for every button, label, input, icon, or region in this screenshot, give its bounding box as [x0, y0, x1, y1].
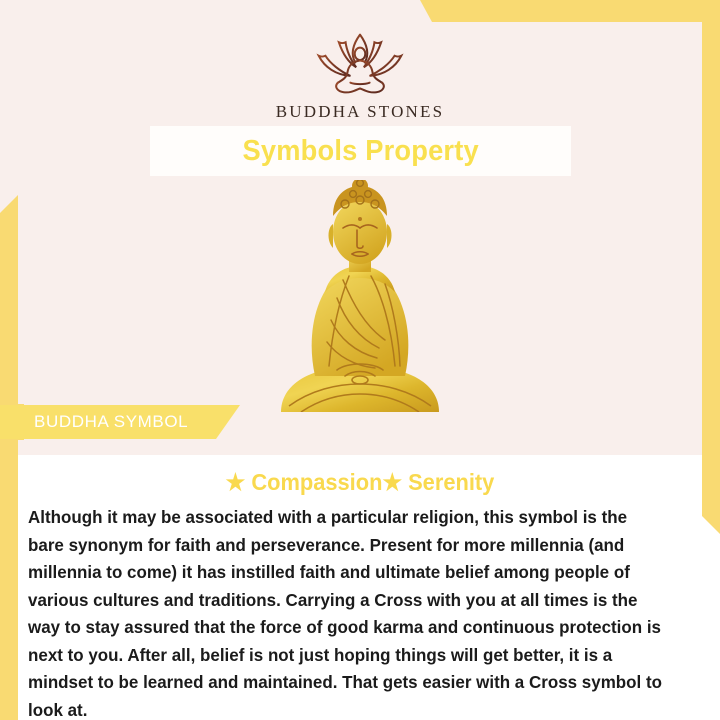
symbol-tag-label: BUDDHA SYMBOL — [34, 412, 188, 432]
upper-background-panel-top-left — [0, 0, 432, 22]
brand-logo: BUDDHA STONES — [0, 26, 720, 122]
hero-image — [0, 180, 720, 412]
lotus-meditation-icon — [300, 26, 420, 98]
brand-name: BUDDHA STONES — [276, 102, 445, 122]
golden-seated-buddha-illustration — [267, 180, 453, 412]
content-panel: ★ Compassion★ Serenity Although it may b… — [18, 455, 702, 720]
symbol-tag: BUDDHA SYMBOL — [0, 405, 240, 439]
decoration-top-right-bar — [420, 0, 720, 22]
content-subtitle: ★ Compassion★ Serenity — [35, 469, 685, 496]
page-title: Symbols Property — [242, 135, 478, 168]
infographic-canvas: BUDDHA STONES Symbols Property — [0, 0, 720, 720]
title-banner: Symbols Property — [150, 126, 571, 176]
content-paragraph: Although it may be associated with a par… — [28, 504, 663, 720]
